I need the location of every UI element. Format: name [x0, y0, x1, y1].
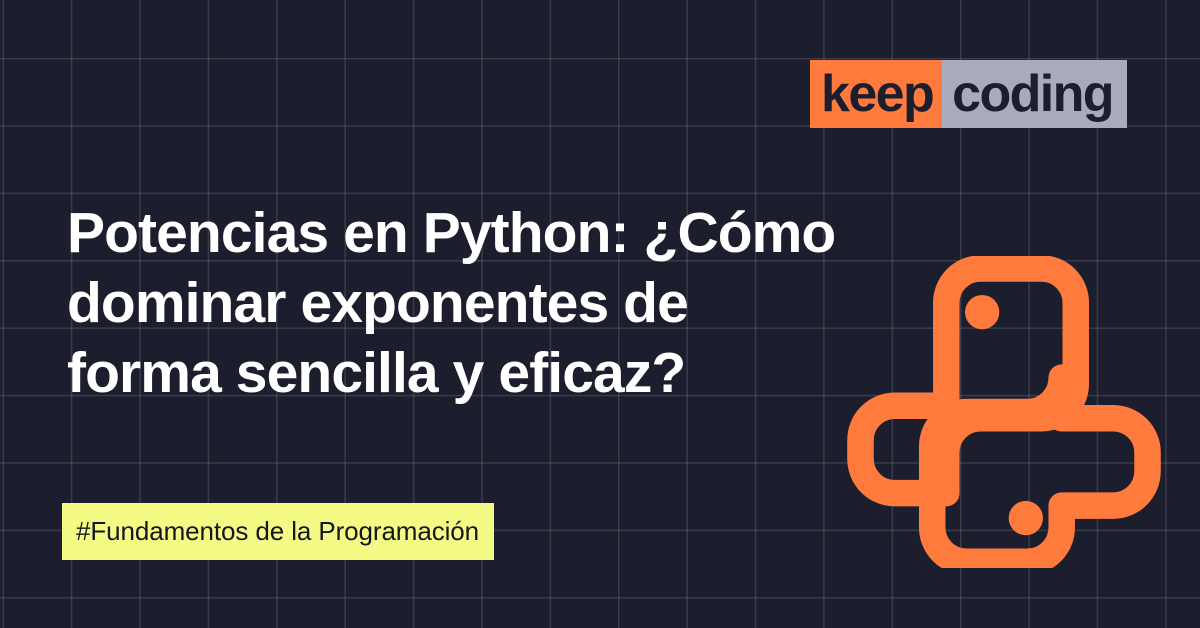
python-logo-eye-lower	[1009, 501, 1043, 535]
page-title: Potencias en Python: ¿Cómo dominar expon…	[67, 198, 857, 408]
python-logo-icon	[846, 256, 1162, 568]
banner-canvas: keep coding Potencias en Python: ¿Cómo d…	[0, 0, 1200, 628]
python-logo-eye-upper	[965, 295, 999, 329]
brand-logo-coding: coding	[942, 60, 1127, 128]
page-title-line-3: forma sencilla y eficaz?	[67, 338, 857, 408]
page-title-line-2: dominar exponentes de	[67, 268, 857, 338]
page-title-line-1: Potencias en Python: ¿Cómo	[67, 198, 857, 268]
keepcoding-logo[interactable]: keep coding	[810, 60, 1127, 128]
brand-logo-keep: keep	[810, 60, 942, 128]
category-tag-label: #Fundamentos de la Programación	[76, 516, 479, 547]
category-tag[interactable]: #Fundamentos de la Programación	[62, 503, 494, 560]
